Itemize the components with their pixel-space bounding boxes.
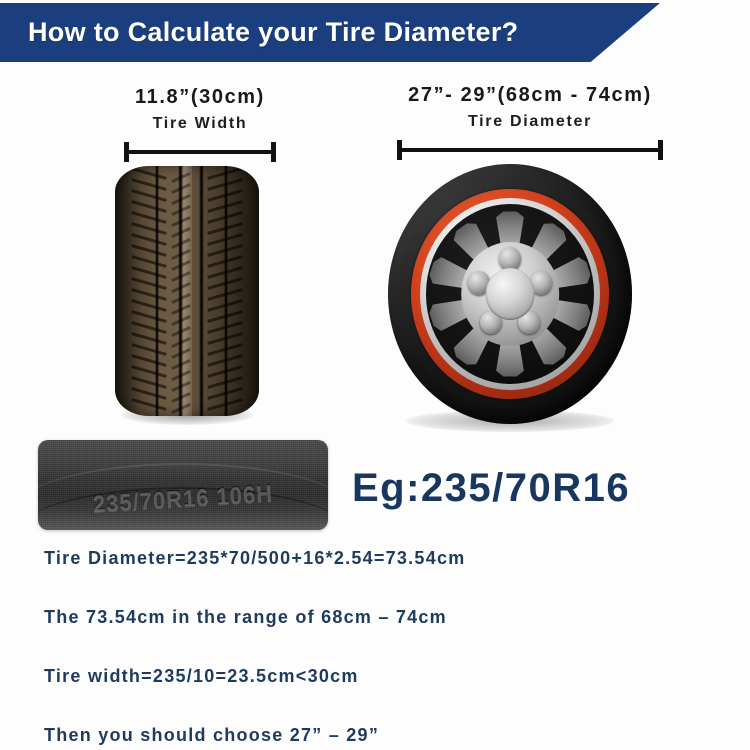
tread-sipe (131, 178, 166, 191)
wheel-center-cap (486, 268, 535, 320)
tread-sipe (131, 299, 166, 312)
tread-groove (199, 166, 204, 416)
tread-sipe (131, 321, 166, 334)
tread-sipe (131, 244, 166, 257)
tire-diameter-value: 27”- 29”(68cm - 74cm) (330, 84, 730, 107)
tread-sipe (131, 387, 166, 400)
tire-sidewall-image: 235/70R16 106H (38, 440, 328, 530)
tread-groove (178, 166, 183, 416)
tread-sipe (131, 343, 166, 356)
tread-sipe (131, 277, 166, 290)
formula-line: Then you should choose 27” – 29” (44, 725, 730, 746)
example-headline: Eg:235/70R16 (352, 466, 630, 511)
dimension-group-tire-width: 11.8”(30cm) Tire Width (60, 86, 340, 162)
formula-line: Tire width=235/10=23.5cm<30cm (44, 666, 730, 687)
wheel-image (388, 164, 632, 424)
tread-sipe (131, 222, 166, 235)
dimension-group-tire-diameter: 27”- 29”(68cm - 74cm) Tire Diameter (330, 84, 730, 160)
tread-sipe (131, 365, 166, 378)
infographic-page: How to Calculate your Tire Diameter? 11.… (0, 0, 750, 750)
tread-groove (155, 166, 159, 416)
tread-sipe (131, 167, 166, 180)
tire-width-value: 11.8”(30cm) (60, 86, 340, 109)
tire-diameter-caption: Tire Diameter (330, 113, 730, 131)
tread-sipe (131, 398, 166, 411)
tire-width-caption: Tire Width (60, 115, 340, 133)
dimension-line (128, 150, 272, 154)
page-title: How to Calculate your Tire Diameter? (0, 17, 518, 48)
tire-tread-image (115, 166, 259, 416)
tire-width-dimension-bar-icon (124, 142, 276, 162)
formula-line: The 73.54cm in the range of 68cm – 74cm (44, 607, 730, 628)
tread-sipe (131, 255, 166, 268)
tread-sipe (131, 233, 166, 246)
tread-sipe (131, 332, 166, 345)
tread-sipe (131, 200, 166, 213)
tire-diameter-dimension-bar-icon (397, 140, 663, 160)
tread-sipe (131, 266, 166, 279)
header-banner: How to Calculate your Tire Diameter? (0, 3, 660, 62)
tread-sipe (131, 310, 166, 323)
dimension-cap-right (658, 140, 663, 160)
tread-body (115, 166, 259, 416)
tread-sipe (131, 189, 166, 202)
formula-line: Tire Diameter=235*70/500+16*2.54=73.54cm (44, 548, 730, 569)
formula-list: Tire Diameter=235*70/500+16*2.54=73.54cm… (44, 548, 730, 750)
tread-sipe (131, 211, 166, 224)
dimension-cap-right (271, 142, 276, 162)
tread-sipe (131, 376, 166, 389)
dimension-line (401, 148, 659, 152)
tread-sipe (131, 354, 166, 367)
tread-sipe (131, 288, 166, 301)
